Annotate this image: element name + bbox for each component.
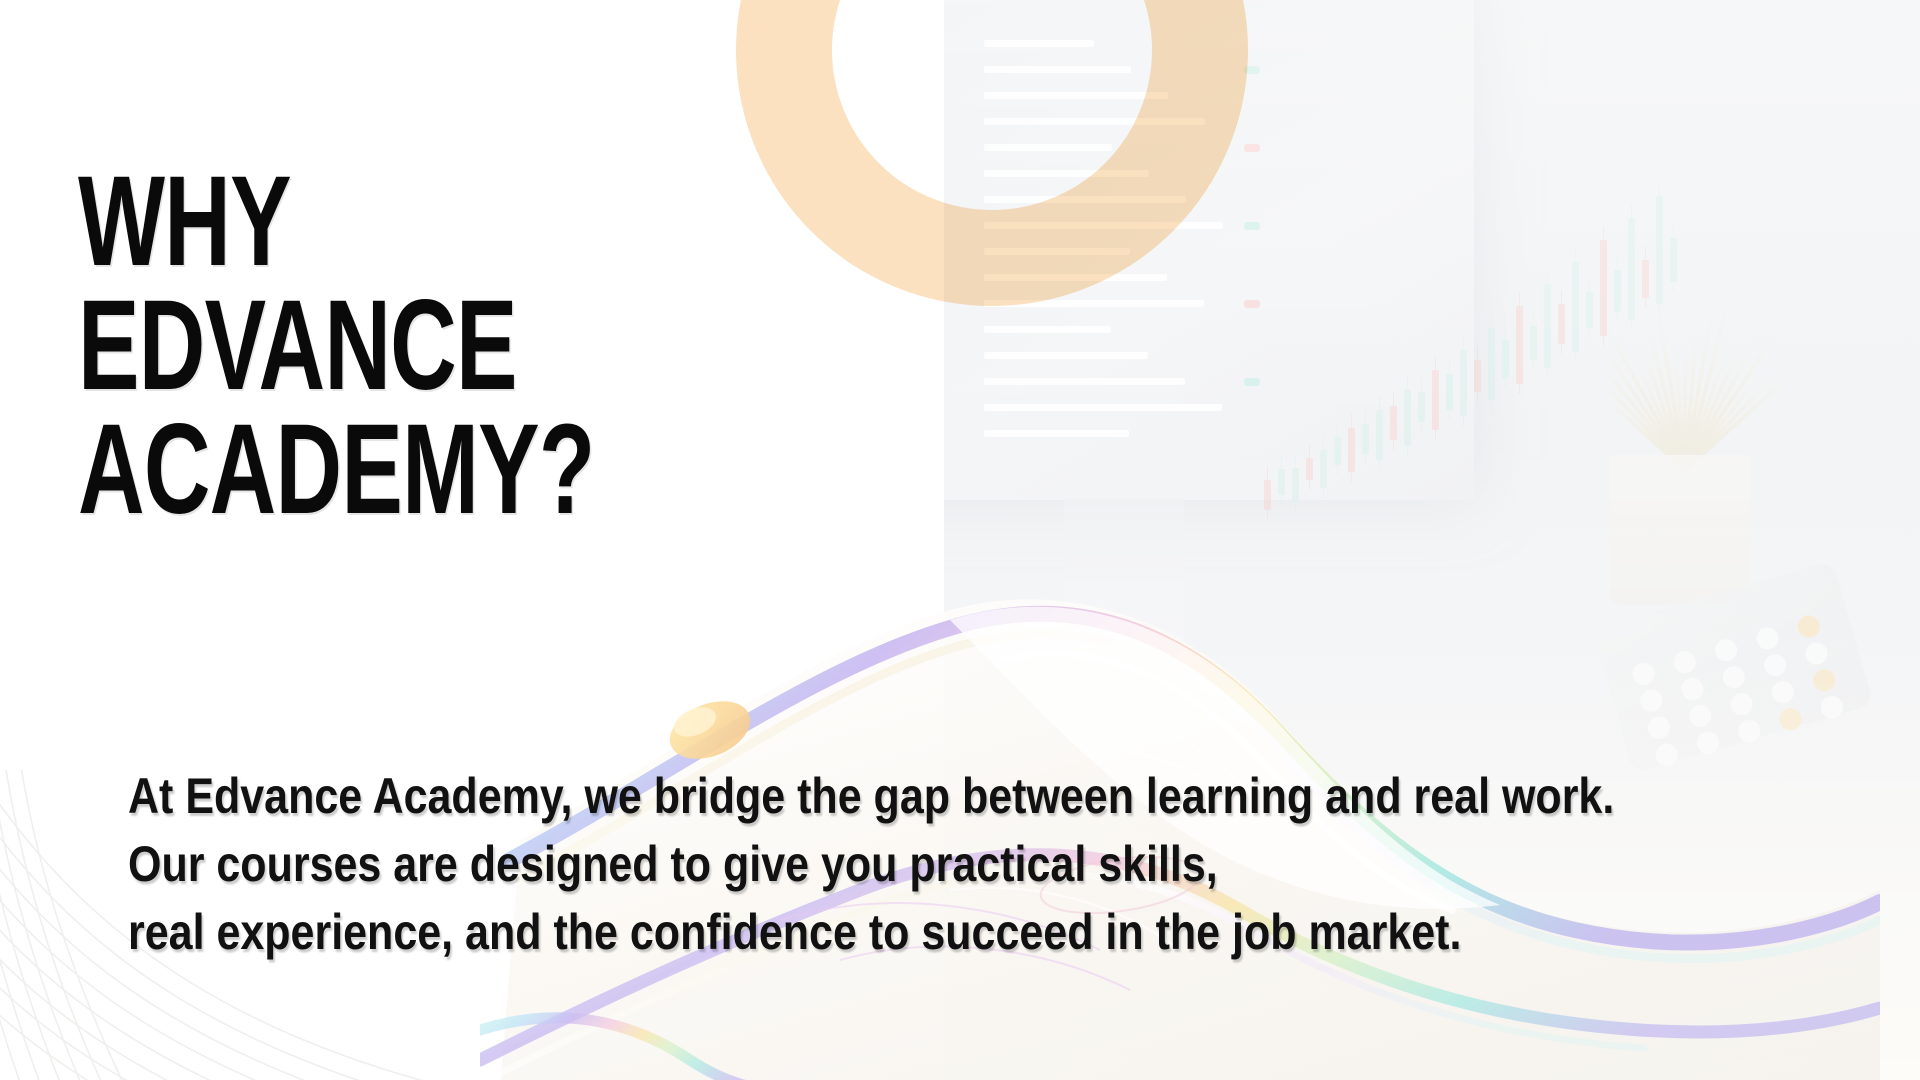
candlestick-bar xyxy=(1572,262,1579,352)
plant-leaf xyxy=(1683,376,1773,471)
candlestick-bar xyxy=(1306,458,1313,480)
body-paragraph: At Edvance Academy, we bridge the gap be… xyxy=(128,762,1614,966)
plant-leaf xyxy=(1683,379,1757,471)
plant-leaf xyxy=(1683,320,1712,471)
plant-leaves-image xyxy=(1590,300,1775,470)
calculator-key xyxy=(1671,648,1698,675)
candlestick-chart-image xyxy=(1264,150,1704,550)
candlestick-bar xyxy=(1586,292,1593,328)
plant-leaf xyxy=(1604,325,1687,471)
candlestick-bar xyxy=(1502,340,1509,378)
candlestick-bar xyxy=(1390,406,1397,440)
ticker-value-chip xyxy=(1244,144,1260,152)
calculator-key xyxy=(1754,625,1781,652)
calculator-key xyxy=(1687,702,1714,729)
plant-leaf xyxy=(1683,341,1757,471)
calculator-key xyxy=(1630,660,1657,687)
candlestick-bar xyxy=(1488,328,1495,400)
plant-leaf xyxy=(1599,343,1686,471)
plant-leaf xyxy=(1683,310,1728,471)
ticker-row xyxy=(984,404,1222,411)
plant-leaf xyxy=(1683,344,1687,470)
plant-leaf xyxy=(1673,357,1686,470)
monitor-stand-image xyxy=(1064,498,1184,648)
candlestick-bar xyxy=(1474,360,1481,392)
candlestick-bar xyxy=(1530,326,1537,360)
candlestick-bar xyxy=(1292,468,1299,502)
candlestick-bar xyxy=(1670,238,1677,282)
candlestick-bar xyxy=(1628,218,1635,320)
plant-leaf xyxy=(1600,394,1686,472)
candlestick-bar xyxy=(1376,410,1383,460)
candlestick-bar xyxy=(1614,270,1621,312)
slide-canvas: WHY EDVANCE ACADEMY? At Edvance Academy,… xyxy=(0,0,1920,1080)
plant-leaf xyxy=(1639,345,1686,471)
calculator-key xyxy=(1679,675,1706,702)
plant-pot-image xyxy=(1610,455,1750,605)
candlestick-bar xyxy=(1600,240,1607,336)
calculator-key xyxy=(1777,706,1804,733)
candlestick-bar xyxy=(1460,350,1467,416)
calculator-key xyxy=(1769,679,1796,706)
calculator-key xyxy=(1795,613,1822,640)
calculator-key xyxy=(1720,664,1747,691)
plant-leaf xyxy=(1634,360,1686,470)
candlestick-bar xyxy=(1278,469,1285,495)
plant-leaf xyxy=(1683,331,1699,470)
page-title: WHY EDVANCE ACADEMY? xyxy=(78,160,594,532)
plant-leaf xyxy=(1683,375,1790,472)
plant-leaf xyxy=(1597,361,1686,472)
candlestick-bar xyxy=(1264,480,1271,510)
candlestick-bar xyxy=(1558,304,1565,344)
calculator-image xyxy=(1592,560,1874,773)
candlestick-bar xyxy=(1334,437,1341,465)
calculator-key xyxy=(1762,652,1789,679)
candlestick-bar xyxy=(1418,392,1425,422)
candlestick-bar xyxy=(1516,306,1523,384)
ticker-value-chip xyxy=(1244,300,1260,308)
ticker-value-chip xyxy=(1244,378,1260,386)
calculator-key xyxy=(1653,741,1680,768)
calculator-key xyxy=(1713,637,1740,664)
ticker-row xyxy=(984,430,1129,437)
candlestick-bar xyxy=(1362,424,1369,454)
ticker-row xyxy=(984,378,1185,385)
plant-leaf xyxy=(1647,329,1687,470)
candlestick-bar xyxy=(1544,284,1551,368)
candlestick-bar xyxy=(1656,196,1663,304)
candlestick-bar xyxy=(1404,390,1411,446)
candlestick-bar xyxy=(1348,428,1355,472)
calculator-key xyxy=(1803,640,1830,667)
calculator-key xyxy=(1728,690,1755,717)
plant-leaf xyxy=(1683,348,1741,471)
plant-leaf xyxy=(1656,314,1686,470)
plant-leaf xyxy=(1683,356,1726,471)
calculator-key xyxy=(1694,729,1721,756)
ticker-row xyxy=(984,326,1111,333)
candlestick-bar xyxy=(1432,370,1439,430)
candlestick-bar xyxy=(1642,260,1649,298)
candlestick-bar xyxy=(1320,450,1327,488)
plant-leaf xyxy=(1683,336,1774,471)
plant-leaf xyxy=(1597,378,1685,472)
calculator-key xyxy=(1638,687,1665,714)
calculator-key xyxy=(1736,717,1763,744)
calculator-key xyxy=(1811,667,1838,694)
ticker-value-chip xyxy=(1244,222,1260,230)
ticker-row xyxy=(984,352,1148,359)
calculator-key xyxy=(1818,694,1845,721)
calculator-key xyxy=(1645,714,1672,741)
candlestick-bar xyxy=(1446,374,1453,410)
